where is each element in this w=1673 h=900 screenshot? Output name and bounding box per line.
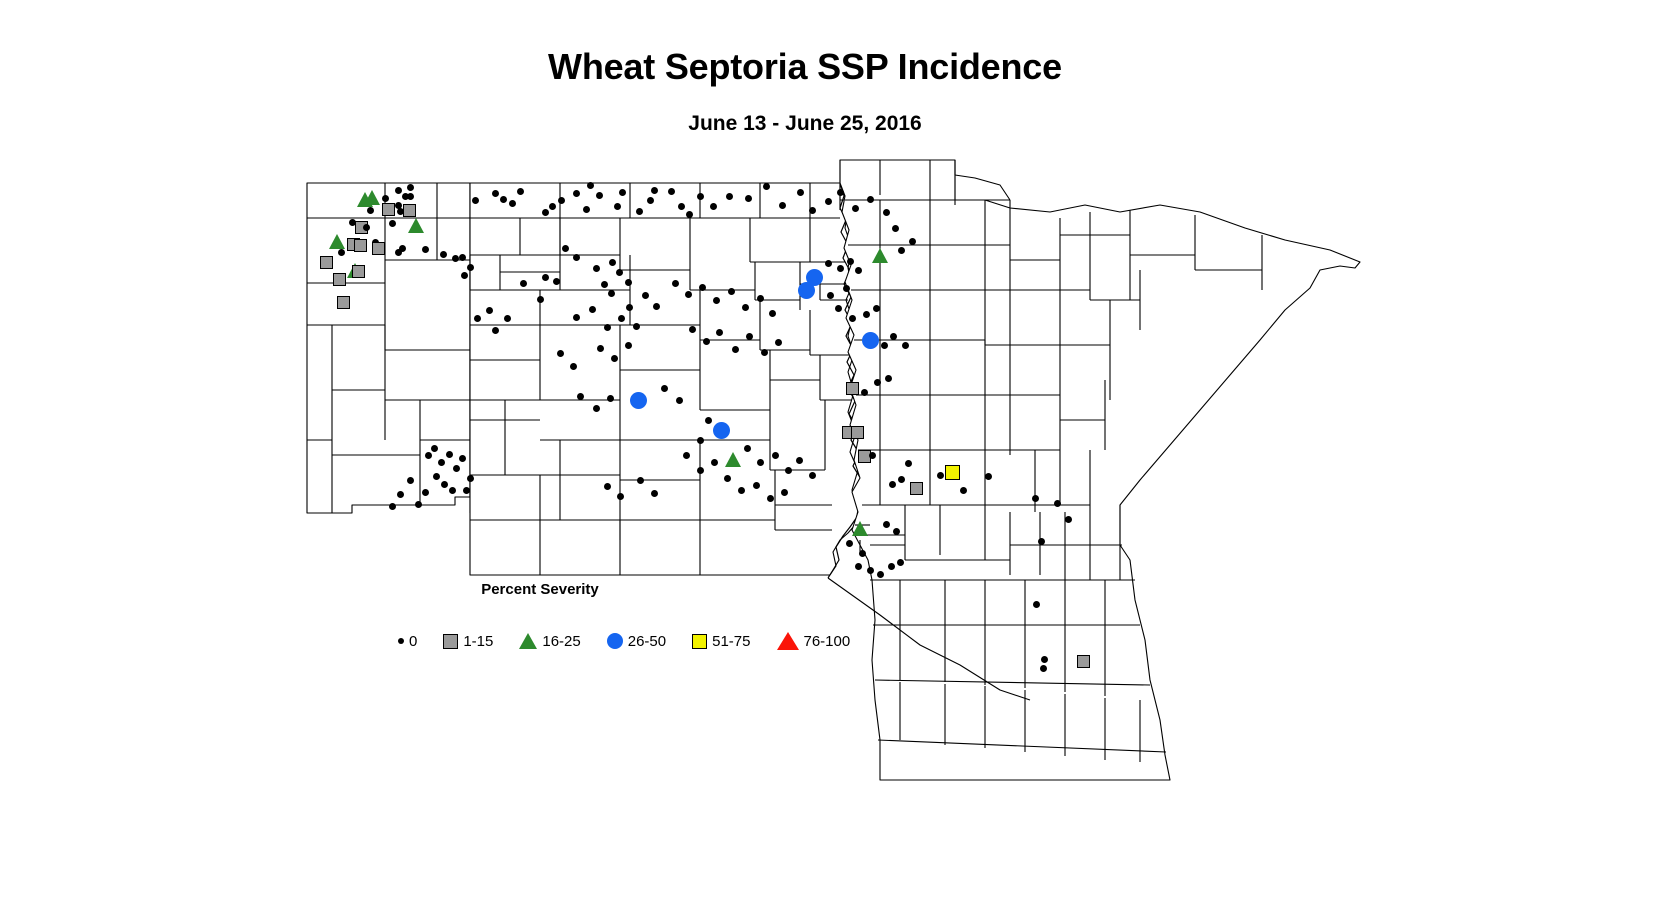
map-marker-0	[382, 195, 389, 202]
map-marker-0	[678, 203, 685, 210]
map-marker-0	[809, 207, 816, 214]
map-marker-0	[618, 315, 625, 322]
map-marker-0	[728, 288, 735, 295]
map-marker-0	[604, 483, 611, 490]
map-marker-16-25	[364, 190, 380, 205]
map-marker-0	[881, 342, 888, 349]
map-marker-0	[549, 203, 556, 210]
state-county-boundaries	[307, 160, 1360, 780]
map-marker-0	[604, 324, 611, 331]
map-marker-0	[867, 567, 874, 574]
map-marker-0	[837, 265, 844, 272]
map-marker-0	[775, 339, 782, 346]
legend-label: 1-15	[463, 633, 493, 650]
map-marker-0	[898, 247, 905, 254]
map-marker-0	[846, 540, 853, 547]
map-marker-0	[1065, 516, 1072, 523]
map-marker-0	[757, 295, 764, 302]
map-marker-0	[697, 193, 704, 200]
map-marker-0	[407, 184, 414, 191]
blue-circle-icon	[607, 633, 623, 649]
map-marker-0	[885, 375, 892, 382]
map-marker-0	[509, 200, 516, 207]
map-marker-0	[500, 196, 507, 203]
map-marker-0	[890, 333, 897, 340]
map-marker-0	[425, 452, 432, 459]
map-marker-0	[843, 285, 850, 292]
map-marker-0	[726, 193, 733, 200]
map-marker-0	[492, 327, 499, 334]
map-marker-0	[472, 197, 479, 204]
map-marker-0	[537, 296, 544, 303]
map-marker-0	[686, 211, 693, 218]
legend-item-0: 0	[398, 633, 417, 650]
map-marker-0	[653, 303, 660, 310]
map-marker-0	[781, 489, 788, 496]
map-marker-0	[874, 379, 881, 386]
map-marker-0	[837, 189, 844, 196]
map-marker-0	[892, 225, 899, 232]
map-marker-0	[467, 264, 474, 271]
map-marker-16-25	[725, 452, 741, 467]
map-marker-0	[873, 305, 880, 312]
map-marker-0	[849, 315, 856, 322]
map-marker-0	[888, 563, 895, 570]
map-marker-26-50	[862, 332, 879, 349]
map-marker-0	[553, 278, 560, 285]
map-marker-0	[960, 487, 967, 494]
map-marker-0	[453, 465, 460, 472]
map-canvas	[0, 0, 1673, 900]
map-marker-0	[716, 329, 723, 336]
map-marker-0	[651, 187, 658, 194]
map-marker-0	[609, 259, 616, 266]
map-marker-0	[1033, 601, 1040, 608]
map-marker-0	[542, 209, 549, 216]
map-marker-0	[710, 203, 717, 210]
map-marker-1-15	[333, 273, 346, 286]
map-marker-0	[449, 487, 456, 494]
map-marker-0	[587, 182, 594, 189]
map-marker-0	[389, 220, 396, 227]
map-marker-0	[573, 254, 580, 261]
map-marker-0	[597, 345, 604, 352]
map-marker-0	[583, 206, 590, 213]
legend-item-76-100: 76-100	[777, 632, 851, 650]
map-marker-0	[763, 183, 770, 190]
map-marker-0	[809, 472, 816, 479]
legend-label: 76-100	[804, 633, 851, 650]
map-marker-0	[909, 238, 916, 245]
map-marker-0	[699, 284, 706, 291]
map-marker-0	[636, 208, 643, 215]
map-marker-0	[608, 290, 615, 297]
map-marker-0	[855, 267, 862, 274]
map-marker-0	[1054, 500, 1061, 507]
map-marker-0	[441, 481, 448, 488]
map-marker-1-15	[910, 482, 923, 495]
map-marker-0	[1041, 656, 1048, 663]
map-marker-0	[705, 417, 712, 424]
map-marker-0	[1038, 538, 1045, 545]
map-marker-0	[889, 481, 896, 488]
map-marker-0	[761, 349, 768, 356]
map-marker-0	[767, 495, 774, 502]
map-marker-0	[676, 397, 683, 404]
map-marker-1-15	[352, 265, 365, 278]
map-marker-0	[596, 192, 603, 199]
map-marker-16-25	[408, 218, 424, 233]
map-marker-1-15	[382, 203, 395, 216]
map-marker-0	[486, 307, 493, 314]
map-marker-0	[855, 563, 862, 570]
map-marker-0	[893, 528, 900, 535]
map-marker-0	[407, 477, 414, 484]
map-marker-0	[827, 292, 834, 299]
map-marker-0	[647, 197, 654, 204]
map-marker-0	[877, 571, 884, 578]
legend-label: 51-75	[712, 633, 750, 650]
map-marker-26-50	[806, 269, 823, 286]
map-marker-0	[389, 503, 396, 510]
legend-label: 16-25	[542, 633, 580, 650]
map-marker-0	[711, 459, 718, 466]
map-marker-0	[363, 224, 370, 231]
map-marker-0	[796, 457, 803, 464]
map-marker-0	[492, 190, 499, 197]
map-marker-0	[1032, 495, 1039, 502]
map-marker-0	[367, 207, 374, 214]
map-marker-0	[905, 460, 912, 467]
map-marker-51-75	[945, 465, 960, 480]
map-marker-0	[883, 209, 890, 216]
map-marker-0	[1040, 665, 1047, 672]
legend: 01-1516-2526-5051-7576-100	[398, 628, 850, 654]
map-marker-0	[637, 477, 644, 484]
map-marker-0	[542, 274, 549, 281]
map-marker-0	[459, 455, 466, 462]
map-marker-0	[724, 475, 731, 482]
legend-label: 26-50	[628, 633, 666, 650]
map-marker-0	[697, 437, 704, 444]
legend-label: 0	[409, 633, 417, 650]
map-marker-0	[607, 395, 614, 402]
map-marker-0	[769, 310, 776, 317]
map-marker-0	[402, 193, 409, 200]
map-marker-0	[616, 269, 623, 276]
map-marker-0	[779, 202, 786, 209]
map-marker-0	[625, 342, 632, 349]
map-marker-0	[661, 385, 668, 392]
yellow-square-icon	[692, 634, 707, 649]
map-marker-0	[746, 333, 753, 340]
map-marker-0	[463, 487, 470, 494]
map-marker-0	[825, 198, 832, 205]
map-marker-0	[847, 258, 854, 265]
map-marker-0	[738, 487, 745, 494]
map-marker-1-15	[846, 382, 859, 395]
map-marker-0	[397, 491, 404, 498]
map-marker-0	[601, 281, 608, 288]
map-marker-0	[651, 490, 658, 497]
map-marker-0	[869, 452, 876, 459]
map-marker-0	[577, 393, 584, 400]
map-marker-0	[703, 338, 710, 345]
map-marker-0	[668, 188, 675, 195]
map-marker-0	[557, 350, 564, 357]
map-marker-0	[863, 311, 870, 318]
map-marker-0	[757, 459, 764, 466]
map-marker-0	[626, 304, 633, 311]
map-marker-0	[642, 292, 649, 299]
map-marker-1-15	[320, 256, 333, 269]
map-marker-0	[614, 203, 621, 210]
map-marker-0	[573, 314, 580, 321]
map-marker-0	[570, 363, 577, 370]
map-marker-0	[593, 265, 600, 272]
map-marker-0	[619, 189, 626, 196]
legend-item-51-75: 51-75	[692, 633, 750, 650]
map-marker-0	[395, 249, 402, 256]
map-marker-0	[744, 445, 751, 452]
map-marker-0	[902, 342, 909, 349]
map-marker-16-25	[329, 234, 345, 249]
gray-square-icon	[443, 634, 458, 649]
map-page: Wheat Septoria SSP Incidence June 13 - J…	[0, 0, 1673, 900]
map-marker-0	[431, 445, 438, 452]
map-marker-0	[867, 196, 874, 203]
legend-item-1-15: 1-15	[443, 633, 493, 650]
map-marker-0	[562, 245, 569, 252]
legend-item-26-50: 26-50	[607, 633, 666, 650]
map-marker-0	[852, 205, 859, 212]
map-marker-0	[589, 306, 596, 313]
map-marker-0	[611, 355, 618, 362]
red-triangle-icon	[777, 632, 799, 650]
map-marker-0	[433, 473, 440, 480]
map-marker-0	[440, 251, 447, 258]
map-marker-0	[558, 197, 565, 204]
map-marker-0	[825, 260, 832, 267]
map-marker-26-50	[630, 392, 647, 409]
map-marker-0	[415, 501, 422, 508]
map-marker-0	[883, 521, 890, 528]
map-marker-0	[467, 475, 474, 482]
map-marker-0	[395, 187, 402, 194]
map-marker-0	[859, 550, 866, 557]
map-marker-0	[520, 280, 527, 287]
map-marker-1-15	[354, 239, 367, 252]
map-marker-16-25	[852, 521, 868, 536]
legend-title: Percent Severity	[440, 581, 640, 598]
map-marker-0	[689, 326, 696, 333]
map-marker-0	[338, 249, 345, 256]
map-marker-0	[861, 389, 868, 396]
map-marker-1-15	[337, 296, 350, 309]
map-marker-0	[672, 280, 679, 287]
map-marker-0	[745, 195, 752, 202]
map-marker-0	[474, 315, 481, 322]
map-marker-0	[617, 493, 624, 500]
map-marker-0	[797, 189, 804, 196]
small-black-dot-icon	[398, 638, 404, 644]
map-marker-0	[459, 254, 466, 261]
map-marker-0	[504, 315, 511, 322]
county-map-svg	[0, 0, 1673, 900]
map-marker-0	[446, 451, 453, 458]
map-marker-0	[937, 472, 944, 479]
map-marker-0	[835, 305, 842, 312]
map-marker-0	[785, 467, 792, 474]
map-marker-0	[452, 255, 459, 262]
map-marker-1-15	[851, 426, 864, 439]
legend-item-16-25: 16-25	[519, 633, 580, 650]
map-marker-0	[713, 297, 720, 304]
map-marker-1-15	[1077, 655, 1090, 668]
map-marker-1-15	[403, 204, 416, 217]
map-marker-0	[685, 291, 692, 298]
map-marker-0	[422, 246, 429, 253]
map-marker-0	[742, 304, 749, 311]
map-marker-0	[573, 190, 580, 197]
map-marker-0	[633, 323, 640, 330]
map-marker-0	[697, 467, 704, 474]
green-triangle-icon	[519, 633, 537, 649]
map-marker-0	[898, 476, 905, 483]
map-marker-26-50	[713, 422, 730, 439]
map-marker-0	[897, 559, 904, 566]
map-marker-0	[461, 272, 468, 279]
map-marker-0	[753, 482, 760, 489]
map-marker-0	[772, 452, 779, 459]
map-marker-0	[593, 405, 600, 412]
map-marker-0	[422, 489, 429, 496]
map-marker-0	[625, 279, 632, 286]
map-marker-0	[517, 188, 524, 195]
map-marker-16-25	[872, 248, 888, 263]
map-marker-0	[438, 459, 445, 466]
map-marker-1-15	[372, 242, 385, 255]
map-marker-0	[732, 346, 739, 353]
map-marker-0	[985, 473, 992, 480]
map-marker-0	[683, 452, 690, 459]
